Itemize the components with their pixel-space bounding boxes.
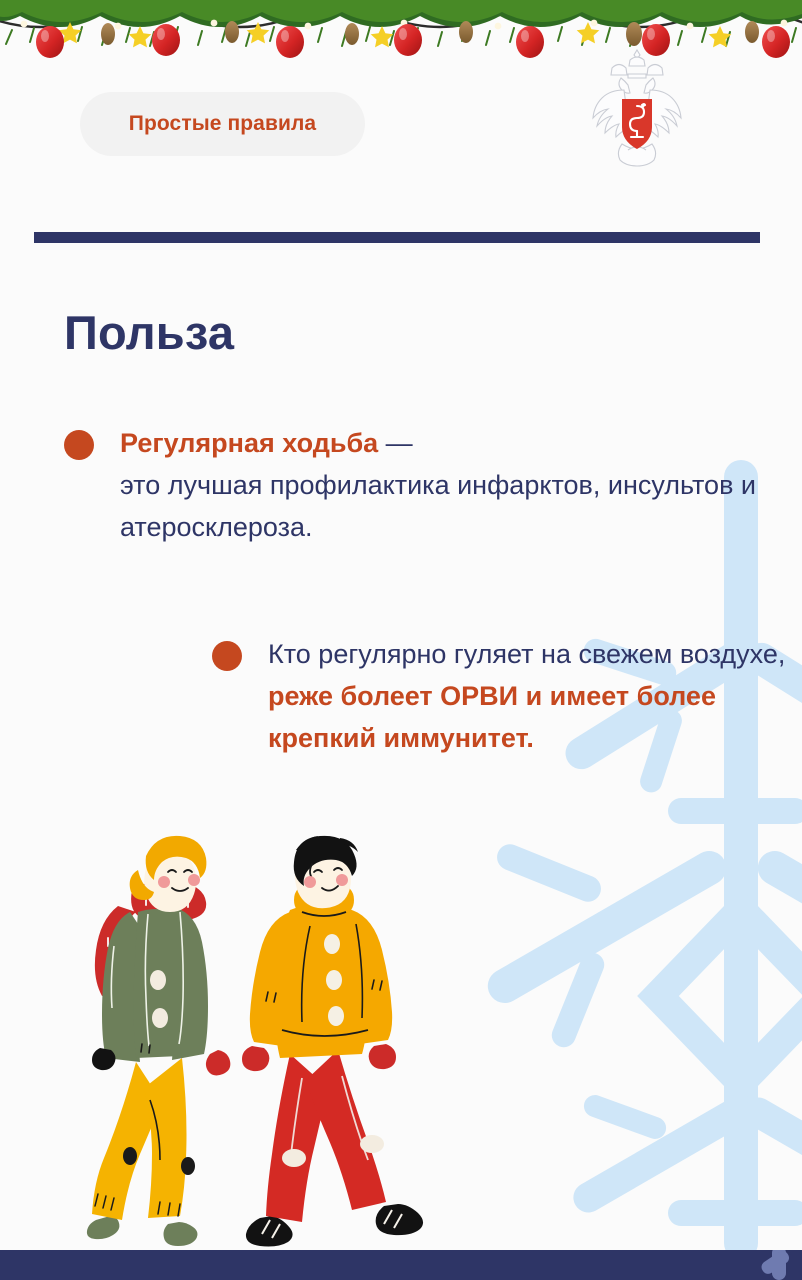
page-title: Польза: [64, 305, 234, 360]
benefit-bullet-1-text: Регулярная ходьба — это лучшая профилакт…: [120, 422, 802, 548]
benefit-bullet-1-body: это лучшая профилактика инфарктов, инсул…: [120, 470, 756, 542]
section-divider: [34, 232, 760, 243]
footer-bar: [0, 1250, 802, 1280]
christmas-garland: [0, 0, 802, 62]
bullet-dot-icon: [212, 641, 242, 671]
rospotrebnadzor-coat-of-arms-icon: [578, 44, 696, 170]
bullet-dot-icon: [64, 430, 94, 460]
two-people-walking-illustration: [84, 832, 456, 1262]
benefit-bullet-1-dash: —: [378, 428, 413, 458]
benefit-bullet-2-highlight: реже болеет ОРВИ и имеет более крепкий и…: [268, 681, 716, 753]
snowflake-decoration: [432, 440, 802, 1280]
badge-label: Простые правила: [129, 112, 316, 136]
benefit-bullet-2: Кто регулярно гуляет на свежем воздухе, …: [212, 633, 802, 759]
benefit-bullet-2-prefix: Кто регулярно гуляет на свежем воздухе,: [268, 639, 785, 669]
benefit-bullet-2-text: Кто регулярно гуляет на свежем воздухе, …: [268, 633, 802, 759]
poster-root: Простые правила: [0, 0, 802, 1280]
benefit-bullet-1-lead: Регулярная ходьба: [120, 428, 378, 458]
benefit-bullet-1: Регулярная ходьба — это лучшая профилакт…: [64, 422, 802, 548]
simple-rules-badge[interactable]: Простые правила: [80, 92, 365, 156]
